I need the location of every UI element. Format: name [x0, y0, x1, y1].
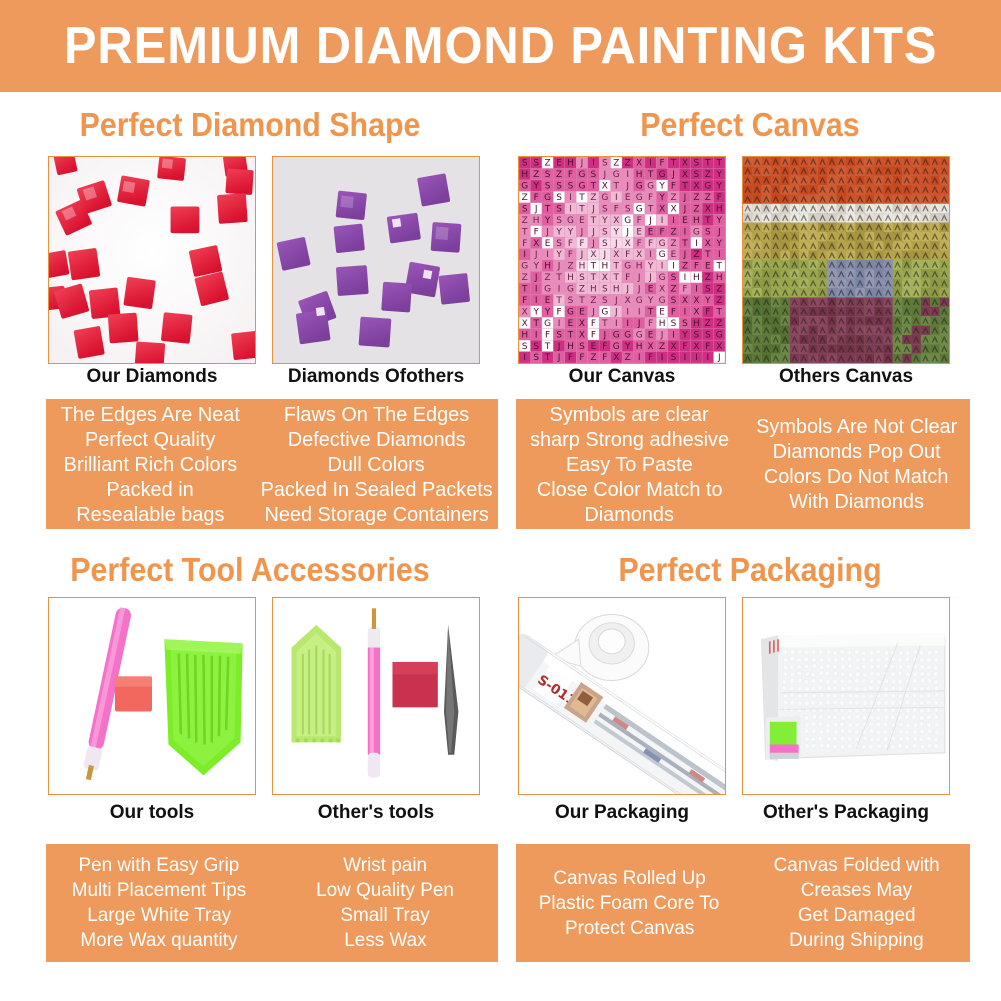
svg-text:F: F	[625, 273, 630, 283]
svg-text:T: T	[613, 182, 620, 192]
svg-text:S: S	[556, 239, 562, 249]
comparison-panel-diamond-shape: The Edges Are NeatPerfect QualityBrillia…	[46, 399, 498, 529]
svg-text:S: S	[602, 239, 608, 249]
svg-text:F: F	[545, 330, 550, 340]
panel-line: Brilliant Rich Colors	[64, 452, 237, 477]
svg-text:I: I	[626, 307, 629, 317]
svg-text:G: G	[636, 193, 643, 203]
svg-text:Z: Z	[670, 285, 676, 295]
svg-text:G: G	[544, 285, 551, 295]
svg-text:X: X	[522, 307, 528, 317]
svg-text:T: T	[590, 262, 597, 272]
svg-text:G: G	[716, 330, 723, 340]
svg-text:Z: Z	[716, 319, 722, 329]
svg-text:F: F	[568, 170, 573, 180]
svg-text:S: S	[705, 285, 711, 295]
svg-text:T: T	[704, 159, 711, 169]
svg-text:T: T	[716, 159, 723, 169]
svg-text:Y: Y	[601, 216, 608, 226]
purple-diamonds-illustration	[273, 157, 479, 363]
svg-text:T: T	[716, 262, 723, 272]
svg-text:G: G	[567, 307, 574, 317]
svg-text:T: T	[578, 296, 585, 306]
svg-text:J: J	[534, 204, 538, 214]
svg-text:F: F	[534, 227, 539, 237]
page-title: PREMIUM DIAMOND PAINTING KITS	[64, 16, 938, 76]
svg-text:F: F	[705, 307, 710, 317]
svg-text:T: T	[578, 204, 585, 214]
svg-text:X: X	[705, 204, 711, 214]
comparison-panel-packaging: Canvas Rolled UpPlastic Foam Core ToProt…	[516, 844, 970, 962]
svg-text:I: I	[638, 353, 641, 363]
svg-text:X: X	[693, 296, 699, 306]
svg-text:G: G	[659, 273, 666, 283]
svg-text:S: S	[602, 296, 608, 306]
svg-text:I: I	[672, 262, 675, 272]
svg-text:T: T	[555, 273, 562, 283]
svg-text:Z: Z	[659, 342, 665, 352]
svg-text:G: G	[647, 182, 654, 192]
svg-text:E: E	[682, 216, 688, 226]
svg-text:S: S	[545, 170, 551, 180]
svg-text:J: J	[683, 204, 687, 214]
svg-text:H: H	[693, 216, 700, 226]
panel-line: Creases May	[801, 878, 912, 903]
pink-symbol-grid-canvas: SSZEHJISZZXIFTXSTTHZSZFGSJGIHTGJXSZYGYSS…	[519, 157, 725, 363]
svg-text:H: H	[579, 262, 586, 272]
svg-text:Z: Z	[533, 170, 539, 180]
svg-text:F: F	[682, 285, 687, 295]
svg-text:Y: Y	[716, 216, 723, 226]
svg-text:F: F	[648, 193, 653, 203]
svg-text:J: J	[534, 273, 538, 283]
svg-text:G: G	[521, 262, 528, 272]
panel-line: With Diamonds	[789, 489, 924, 514]
svg-text:S: S	[602, 227, 608, 237]
svg-text:Z: Z	[545, 159, 551, 169]
svg-text:X: X	[636, 250, 642, 260]
svg-text:X: X	[682, 296, 688, 306]
svg-text:I: I	[535, 330, 538, 340]
svg-text:Z: Z	[625, 159, 631, 169]
svg-text:G: G	[659, 296, 666, 306]
svg-text:T: T	[613, 273, 620, 283]
svg-text:E: E	[671, 250, 677, 260]
svg-text:J: J	[603, 250, 607, 260]
svg-text:S: S	[556, 204, 562, 214]
svg-text:H: H	[636, 262, 643, 272]
svg-text:T: T	[681, 182, 688, 192]
others-column-tools: Wrist painLow Quality PenSmall TrayLess …	[272, 844, 498, 962]
svg-text:I: I	[684, 273, 687, 283]
panel-line: Less Wax	[344, 928, 426, 953]
panel-line: More Wax quantity	[81, 928, 238, 953]
svg-text:I: I	[523, 250, 526, 260]
svg-text:H: H	[533, 216, 540, 226]
svg-text:Z: Z	[670, 227, 676, 237]
svg-text:X: X	[682, 159, 688, 169]
svg-text:I: I	[672, 330, 675, 340]
svg-text:Z: Z	[670, 239, 676, 249]
panel-line: Get Damaged	[798, 903, 916, 928]
svg-text:X: X	[613, 250, 619, 260]
our-canvas-photo: SSZEHJISZZXIFTXSTTHZSZFGSJGIHTGJXSZYGYSS…	[518, 156, 726, 364]
svg-text:S: S	[671, 319, 677, 329]
svg-text:H: H	[693, 319, 700, 329]
svg-text:S: S	[556, 182, 562, 192]
svg-text:I: I	[695, 285, 698, 295]
other-tools-illustration	[273, 598, 479, 794]
svg-text:Z: Z	[590, 193, 596, 203]
panel-line: Symbols are clear	[550, 402, 709, 427]
svg-text:S: S	[556, 193, 562, 203]
svg-text:S: S	[671, 353, 677, 363]
caption-our-tools: Our tools	[48, 802, 256, 824]
svg-text:E: E	[705, 262, 711, 272]
svg-text:Y: Y	[544, 216, 551, 226]
svg-text:G: G	[567, 285, 574, 295]
svg-text:X: X	[659, 204, 665, 214]
svg-text:H: H	[613, 285, 620, 295]
svg-text:I: I	[626, 170, 629, 180]
svg-text:J: J	[580, 250, 584, 260]
svg-text:S: S	[533, 353, 539, 363]
caption-our-canvas: Our Canvas	[518, 366, 726, 388]
svg-text:S: S	[671, 273, 677, 283]
svg-text:E: E	[545, 239, 551, 249]
svg-text:Y: Y	[555, 250, 562, 260]
ours-column-diamond-shape: The Edges Are NeatPerfect QualityBrillia…	[46, 399, 255, 529]
svg-text:G: G	[521, 182, 528, 192]
caption-our-diamonds: Our Diamonds	[48, 366, 256, 388]
svg-text:G: G	[567, 216, 574, 226]
svg-text:Z: Z	[556, 170, 562, 180]
panel-line: Packed in	[107, 477, 194, 502]
svg-text:S: S	[568, 296, 574, 306]
svg-text:T: T	[681, 239, 688, 249]
svg-text:F: F	[602, 353, 607, 363]
svg-text:J: J	[591, 227, 595, 237]
svg-text:T: T	[544, 353, 551, 363]
svg-text:F: F	[568, 250, 573, 260]
svg-text:I: I	[684, 353, 687, 363]
svg-text:F: F	[556, 307, 561, 317]
svg-text:H: H	[716, 273, 723, 283]
svg-text:F: F	[579, 239, 584, 249]
svg-text:E: E	[648, 285, 654, 295]
svg-text:F: F	[591, 330, 596, 340]
packaging-tube-illustration: S-011	[519, 598, 725, 794]
svg-text:Z: Z	[590, 296, 596, 306]
svg-text:F: F	[614, 204, 619, 214]
svg-text:J: J	[625, 182, 629, 192]
svg-text:E: E	[568, 319, 574, 329]
svg-text:Z: Z	[625, 353, 631, 363]
svg-text:G: G	[578, 182, 585, 192]
svg-text:G: G	[613, 170, 620, 180]
svg-text:H: H	[636, 170, 643, 180]
svg-text:F: F	[602, 342, 607, 352]
svg-text:S: S	[556, 330, 562, 340]
our-diamonds-photo	[48, 156, 256, 364]
svg-text:F: F	[705, 342, 710, 352]
svg-text:F: F	[648, 353, 653, 363]
svg-text:G: G	[624, 216, 631, 226]
svg-text:S: S	[579, 273, 585, 283]
svg-text:T: T	[521, 227, 528, 237]
svg-text:X: X	[522, 319, 528, 329]
comparison-panel-tools: Pen with Easy GripMulti Placement TipsLa…	[46, 844, 498, 962]
svg-text:T: T	[647, 204, 654, 214]
svg-text:Z: Z	[522, 216, 528, 226]
svg-text:T: T	[544, 204, 551, 214]
svg-text:F: F	[694, 262, 699, 272]
svg-text:J: J	[591, 239, 595, 249]
others-canvas-photo	[742, 156, 950, 364]
section-title-tool-accessories: Perfect Tool Accessories	[20, 551, 480, 589]
panel-line: Packed In Sealed Packets	[260, 477, 492, 502]
svg-text:Z: Z	[693, 204, 699, 214]
svg-text:F: F	[648, 239, 653, 249]
svg-text:I: I	[523, 353, 526, 363]
svg-text:T: T	[590, 273, 597, 283]
svg-text:Z: Z	[693, 250, 699, 260]
svg-text:J: J	[591, 204, 595, 214]
svg-text:G: G	[544, 193, 551, 203]
svg-text:Y: Y	[658, 182, 665, 192]
panel-line: Canvas Folded with	[773, 853, 939, 878]
panel-line: Diamonds	[585, 502, 675, 527]
svg-text:Y: Y	[658, 193, 665, 203]
svg-text:Z: Z	[716, 296, 722, 306]
svg-text:S: S	[545, 182, 551, 192]
svg-text:J: J	[614, 296, 618, 306]
panel-line: Easy To Paste	[566, 452, 693, 477]
svg-text:F: F	[671, 182, 676, 192]
svg-text:J: J	[614, 239, 618, 249]
svg-text:Z: Z	[545, 273, 551, 283]
svg-text:I: I	[535, 296, 538, 306]
caption-other-packaging: Other's Packaging	[742, 802, 950, 824]
infographic-page: PREMIUM DIAMOND PAINTING KITS Perfect Di…	[0, 0, 1001, 1001]
svg-text:H: H	[544, 262, 551, 272]
svg-text:Z: Z	[522, 273, 528, 283]
svg-text:X: X	[648, 342, 654, 352]
svg-text:Z: Z	[522, 193, 528, 203]
svg-text:Z: Z	[705, 193, 711, 203]
svg-text:I: I	[661, 262, 664, 272]
svg-text:F: F	[648, 319, 653, 329]
panel-line: Perfect Quality	[85, 427, 215, 452]
svg-text:G: G	[636, 204, 643, 214]
svg-text:I: I	[558, 285, 561, 295]
svg-text:G: G	[704, 182, 711, 192]
svg-text:Z: Z	[693, 193, 699, 203]
svg-text:S: S	[694, 330, 700, 340]
svg-text:Y: Y	[647, 296, 654, 306]
svg-text:I: I	[707, 353, 710, 363]
svg-text:J: J	[557, 353, 561, 363]
svg-text:G: G	[636, 330, 643, 340]
svg-text:X: X	[590, 250, 596, 260]
svg-text:S: S	[682, 319, 688, 329]
svg-text:I: I	[684, 227, 687, 237]
svg-text:S: S	[671, 296, 677, 306]
svg-text:J: J	[580, 227, 584, 237]
svg-text:J: J	[557, 342, 561, 352]
svg-text:H: H	[693, 273, 700, 283]
svg-text:J: J	[625, 227, 629, 237]
svg-text:J: J	[637, 319, 641, 329]
svg-text:E: E	[591, 342, 597, 352]
svg-text:H: H	[567, 342, 574, 352]
svg-text:X: X	[625, 296, 631, 306]
svg-text:H: H	[601, 262, 608, 272]
svg-text:Z: Z	[613, 159, 619, 169]
svg-text:X: X	[682, 170, 688, 180]
svg-text:T: T	[567, 330, 574, 340]
svg-text:E: E	[579, 307, 585, 317]
panel-line: Pen with Easy Grip	[79, 853, 240, 878]
our-packaging-photo: S-011	[518, 597, 726, 795]
svg-text:J: J	[648, 216, 652, 226]
caption-others-canvas: Others Canvas	[742, 366, 950, 388]
svg-text:Z: Z	[567, 262, 573, 272]
svg-text:I: I	[672, 216, 675, 226]
svg-text:F: F	[659, 227, 664, 237]
svg-text:T: T	[578, 193, 585, 203]
svg-text:J: J	[683, 250, 687, 260]
svg-text:Y: Y	[716, 170, 723, 180]
svg-text:G: G	[636, 296, 643, 306]
svg-text:Y: Y	[681, 330, 688, 340]
others-column-diamond-shape: Flaws On The EdgesDefective DiamondsDull…	[255, 399, 498, 529]
section-title-canvas: Perfect Canvas	[520, 106, 980, 144]
svg-text:Y: Y	[624, 342, 631, 352]
svg-text:E: E	[556, 159, 562, 169]
svg-text:Y: Y	[716, 182, 723, 192]
svg-text:X: X	[613, 216, 619, 226]
svg-text:Z: Z	[705, 273, 711, 283]
svg-text:Z: Z	[682, 262, 688, 272]
svg-text:S: S	[522, 342, 528, 352]
svg-text:X: X	[613, 353, 619, 363]
svg-text:G: G	[601, 193, 608, 203]
svg-text:X: X	[579, 330, 585, 340]
svg-text:Y: Y	[704, 296, 711, 306]
svg-text:I: I	[569, 193, 572, 203]
svg-text:S: S	[591, 170, 597, 180]
svg-text:F: F	[534, 193, 539, 203]
svg-text:I: I	[638, 307, 641, 317]
muddy-symbol-grid-canvas	[743, 157, 949, 363]
caption-other-tools: Other's tools	[272, 802, 480, 824]
svg-text:J: J	[614, 307, 618, 317]
svg-text:E: E	[648, 227, 654, 237]
caption-other-diamonds: Diamonds Ofothers	[272, 366, 480, 388]
svg-text:I: I	[535, 285, 538, 295]
panel-line: Dull Colors	[328, 452, 425, 477]
svg-text:G: G	[659, 250, 666, 260]
svg-text:Y: Y	[555, 227, 562, 237]
svg-text:G: G	[544, 319, 551, 329]
svg-text:S: S	[568, 182, 574, 192]
svg-text:H: H	[590, 285, 597, 295]
svg-text:F: F	[637, 239, 642, 249]
svg-text:G: G	[613, 330, 620, 340]
svg-text:J: J	[717, 227, 721, 237]
svg-text:G: G	[636, 182, 643, 192]
svg-text:S: S	[694, 170, 700, 180]
panel-line: Protect Canvas	[565, 916, 694, 941]
svg-text:H: H	[659, 319, 666, 329]
svg-text:T: T	[601, 319, 608, 329]
svg-text:I: I	[661, 353, 664, 363]
svg-text:H: H	[567, 273, 574, 283]
svg-text:T: T	[716, 307, 723, 317]
panel-line: Large White Tray	[87, 903, 231, 928]
svg-text:X: X	[636, 159, 642, 169]
other-packaging-photo	[742, 597, 950, 795]
ours-column-packaging: Canvas Rolled UpPlastic Foam Core ToProt…	[516, 844, 743, 962]
svg-text:T: T	[704, 250, 711, 260]
svg-text:Y: Y	[716, 239, 723, 249]
svg-text:I: I	[661, 216, 664, 226]
panel-line: Diamonds Pop Out	[772, 439, 940, 464]
panel-line: Defective Diamonds	[287, 427, 465, 452]
svg-text:J: J	[660, 330, 664, 340]
svg-text:X: X	[533, 239, 539, 249]
svg-text:I: I	[592, 159, 595, 169]
svg-text:T: T	[521, 285, 528, 295]
svg-text:S: S	[579, 342, 585, 352]
svg-text:I: I	[649, 250, 652, 260]
svg-text:X: X	[705, 239, 711, 249]
svg-text:G: G	[613, 342, 620, 352]
svg-text:Y: Y	[613, 227, 620, 237]
svg-text:Y: Y	[532, 307, 539, 317]
svg-text:E: E	[625, 193, 631, 203]
svg-text:F: F	[659, 159, 664, 169]
svg-text:X: X	[716, 342, 722, 352]
svg-text:X: X	[693, 342, 699, 352]
svg-text:S: S	[522, 159, 528, 169]
svg-text:G: G	[578, 170, 585, 180]
svg-text:I: I	[546, 250, 549, 260]
svg-text:Z: Z	[705, 170, 711, 180]
svg-text:S: S	[694, 159, 700, 169]
panel-line: Colors Do Not Match	[764, 464, 949, 489]
svg-text:J: J	[637, 285, 641, 295]
svg-text:S: S	[533, 342, 539, 352]
svg-text:X: X	[693, 182, 699, 192]
svg-text:J: J	[648, 273, 652, 283]
panel-line: Wrist pain	[343, 853, 427, 878]
svg-text:J: J	[671, 170, 675, 180]
svg-text:I: I	[684, 307, 687, 317]
svg-text:G: G	[601, 307, 608, 317]
svg-text:J: J	[625, 285, 629, 295]
panel-line: Need Storage Containers	[264, 502, 488, 527]
section-title-diamond-shape: Perfect Diamond Shape	[20, 106, 480, 144]
svg-text:E: E	[636, 227, 642, 237]
svg-text:T: T	[544, 342, 551, 352]
svg-text:I: I	[695, 353, 698, 363]
svg-text:G: G	[659, 239, 666, 249]
svg-text:F: F	[579, 353, 584, 363]
panel-line: Close Color Match to	[537, 477, 723, 502]
svg-text:S: S	[625, 204, 631, 214]
